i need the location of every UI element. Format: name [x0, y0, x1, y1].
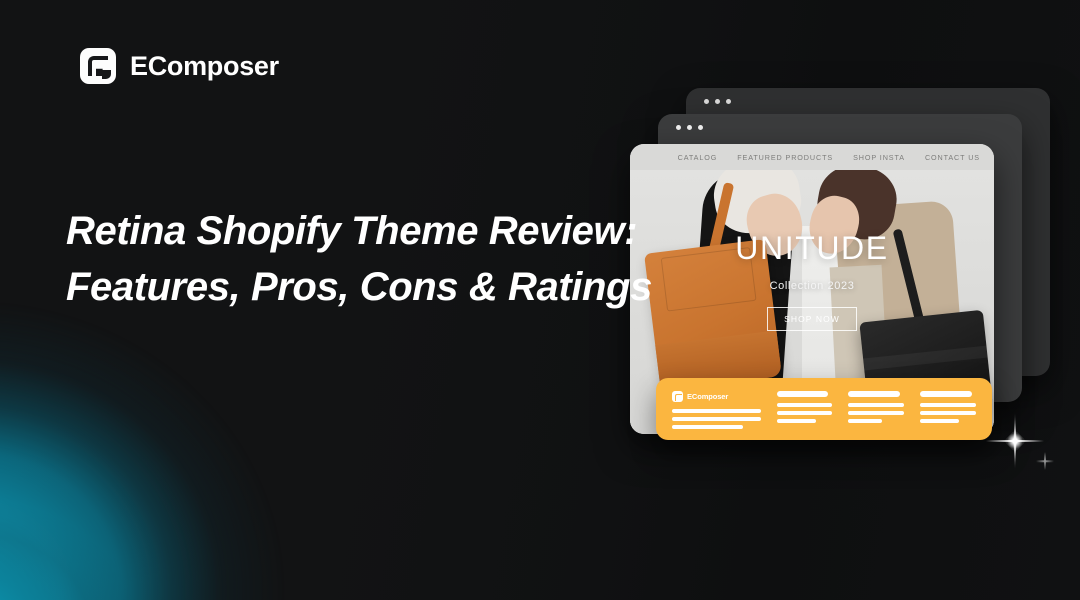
storefront-nav: CATALOG FEATURED PRODUCTS SHOP INSTA CON… — [630, 144, 994, 170]
footer-placeholder-bar — [672, 425, 743, 429]
footer-placeholder-bar — [672, 417, 761, 421]
footer-placeholder-bar — [920, 403, 976, 407]
footer-placeholder-bar — [672, 409, 761, 413]
hero-banner: EComposer Retina Shopify Theme Review: F… — [0, 0, 1080, 600]
footer-column-brand: EComposer — [672, 391, 761, 429]
hero-title: UNITUDE — [735, 232, 888, 264]
ecomposer-logo-icon — [672, 391, 683, 402]
brand-name: EComposer — [130, 51, 279, 82]
nav-item-contact-us[interactable]: CONTACT US — [925, 153, 980, 162]
nav-item-featured-products[interactable]: FEATURED PRODUCTS — [737, 153, 833, 162]
brand-logo[interactable]: EComposer — [80, 48, 279, 84]
page-title: Retina Shopify Theme Review: Features, P… — [66, 203, 666, 315]
footer-brand-logo: EComposer — [672, 391, 761, 402]
footer-placeholder-bar — [848, 411, 904, 415]
shop-now-button[interactable]: SHOP NOW — [767, 307, 857, 331]
footer-column-heading-bar — [777, 391, 828, 397]
nav-item-catalog[interactable]: CATALOG — [678, 153, 718, 162]
footer-column-links-3 — [920, 391, 976, 423]
window-dots-icon — [676, 125, 703, 130]
footer-placeholder-bar — [920, 419, 959, 423]
footer-column-links-1 — [777, 391, 833, 423]
hero-copy-block: UNITUDE Collection 2023 SHOP NOW — [630, 232, 994, 331]
footer-placeholder-bar — [848, 419, 881, 423]
hero-subtitle: Collection 2023 — [770, 280, 855, 292]
window-dots-icon — [704, 99, 731, 104]
footer-placeholder-bar — [848, 403, 904, 407]
footer-placeholder-bar — [777, 403, 833, 407]
footer-column-heading-bar — [920, 391, 971, 397]
footer-placeholder-bar — [920, 411, 976, 415]
ecomposer-logo-icon — [80, 48, 116, 84]
sparkle-small-icon — [1036, 452, 1054, 470]
storefront-footer-card: EComposer — [656, 378, 992, 440]
footer-brand-name: EComposer — [687, 392, 728, 401]
footer-column-links-2 — [848, 391, 904, 423]
footer-placeholder-bar — [777, 411, 833, 415]
nav-item-shop-insta[interactable]: SHOP INSTA — [853, 153, 905, 162]
footer-placeholder-bar — [777, 419, 816, 423]
footer-column-heading-bar — [848, 391, 899, 397]
